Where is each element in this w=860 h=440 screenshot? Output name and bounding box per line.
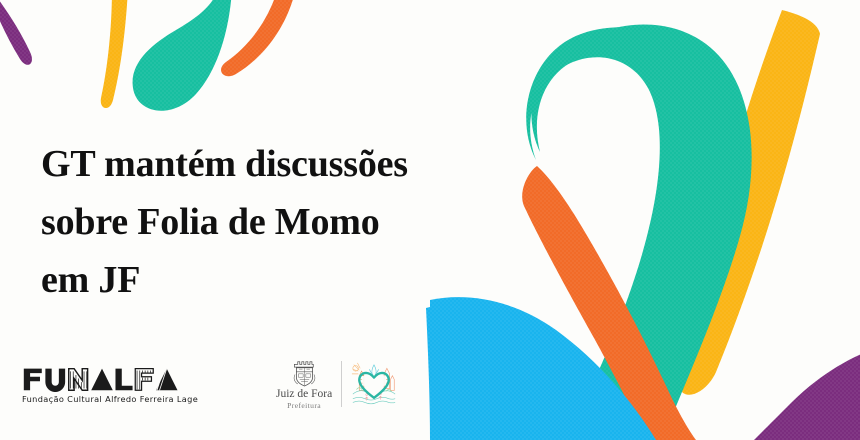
banner: GT mantém discussões sobre Folia de Momo… — [0, 0, 860, 440]
coat-of-arms-icon — [291, 358, 318, 387]
prefeitura-logo: Juiz de Fora Prefeitura — [276, 358, 397, 410]
prefeitura-wordmark-block: Juiz de Fora Prefeitura — [276, 358, 341, 410]
petal-right-purple-blade — [754, 348, 860, 440]
headline: GT mantém discussões sobre Folia de Momo… — [41, 135, 541, 309]
heart-emblem-icon — [351, 361, 397, 407]
petal-top-left-yellow — [101, 0, 128, 108]
funalfa-logo: Fundação Cultural Alfredo Ferreira Lage — [22, 366, 198, 404]
headline-line-3: em JF — [41, 251, 541, 309]
petal-fan-top-left — [0, 0, 296, 111]
prefeitura-subtitle: Prefeitura — [287, 401, 321, 410]
headline-line-2: sobre Folia de Momo — [41, 193, 541, 251]
headline-line-1: GT mantém discussões — [41, 135, 541, 193]
petal-top-left-orange — [221, 0, 296, 76]
petal-top-left-purple — [0, 0, 32, 65]
logo-divider — [341, 361, 342, 407]
petal-top-left-teal — [133, 0, 232, 111]
prefeitura-city-name: Juiz de Fora — [276, 388, 332, 401]
funalfa-tagline: Fundação Cultural Alfredo Ferreira Lage — [22, 394, 198, 404]
funalfa-wordmark-icon — [22, 366, 182, 392]
